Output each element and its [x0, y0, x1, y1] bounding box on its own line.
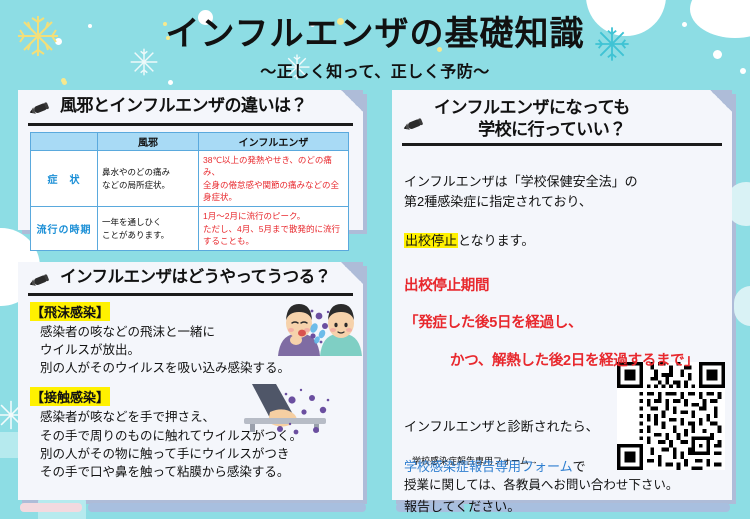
school-intro-before: インフルエンザは「学校保健安全法」の 第2種感染症に指定されており、	[404, 174, 638, 209]
cell-flu-season: 1月〜2月に流行のピーク。 ただし、4月、5月まで散発的に流行することも。	[199, 207, 349, 251]
table-header-row: 風邪 インフルエンザ	[31, 133, 349, 151]
table-row: 症 状 鼻水やのどの痛み などの局所症状。 38℃以上の発熱やせき、のどの痛み、…	[31, 151, 349, 207]
tag-contact-infection: 【接触感染】	[30, 387, 110, 406]
report-line1: インフルエンザと診断されたら、	[404, 419, 599, 434]
heading-underline	[28, 123, 353, 126]
cell-flu-symptoms: 38℃以上の発熱やせき、のどの痛み、 全身の倦怠感や関節の痛みなどの全身症状。	[199, 151, 349, 207]
report-form-link[interactable]: 学校感染症報告専用フォーム	[404, 459, 573, 474]
panel-difference: 風邪とインフルエンザの違いは？ 風邪 インフルエンザ 症 状 鼻水やのどの痛み …	[18, 90, 363, 230]
suspension-line1: 「発症した後5日を経過し、	[404, 314, 720, 333]
school-intro-highlight: 出校停止	[404, 233, 458, 248]
bottom-bar	[20, 503, 82, 512]
panel-heading-line1: インフルエンザになっても	[434, 98, 630, 118]
row-label-symptoms: 症 状	[31, 151, 98, 207]
report-line1-suffix: で	[573, 459, 586, 474]
report-instruction: インフルエンザと診断されたら、 学校感染症報告専用フォームで 報告してください。	[392, 397, 732, 518]
pencil-icon	[28, 270, 54, 292]
header: インフルエンザの基礎知識 〜正しく知って、正しく予防〜	[0, 6, 750, 82]
text-droplet-infection: 感染者の咳などの飛沫と一緒に ウイルスが放出。 別の人がそのウイルスを吸い込み感…	[18, 323, 363, 377]
heading-underline	[28, 293, 353, 296]
panel-heading: インフルエンザはどうやってうつる？	[18, 262, 363, 292]
table-col-kaze: 風邪	[98, 133, 199, 151]
row-label-season: 流行の時期	[31, 207, 98, 251]
suspension-period-block: 出校停止期間 「発症した後5日を経過し、 かつ、解熱した後2日を経過するまで」	[392, 257, 732, 389]
table-col-flu: インフルエンザ	[199, 133, 349, 151]
text-contact-infection: 感染者が咳などを手で押さえ、 その手で周りのものに触れてウイルスがつく。 別の人…	[18, 408, 363, 481]
comparison-table: 風邪 インフルエンザ 症 状 鼻水やのどの痛み などの局所症状。 38℃以上の発…	[30, 132, 349, 251]
cell-kaze-symptoms: 鼻水やのどの痛み などの局所症状。	[98, 151, 199, 207]
suspension-line2: かつ、解熱した後2日を経過するまで」	[404, 352, 720, 371]
panel-heading: インフルエンザになっても 学校に行っていい？	[392, 90, 732, 141]
panel-heading-text: 風邪とインフルエンザの違いは？	[60, 96, 307, 116]
tag-droplet-infection: 【飛沫感染】	[30, 302, 110, 321]
pencil-icon	[28, 98, 54, 120]
cell-kaze-season: 一年を通しひく ことがあります。	[98, 207, 199, 251]
page-subtitle: 〜正しく知って、正しく予防〜	[0, 58, 750, 82]
bottom-bar	[88, 503, 366, 512]
panel-heading-text: インフルエンザはどうやってうつる？	[60, 268, 331, 287]
table-row: 流行の時期 一年を通しひく ことがあります。 1月〜2月に流行のピーク。 ただし…	[31, 207, 349, 251]
school-intro-after: となります。	[458, 233, 534, 248]
panel-heading: 風邪とインフルエンザの違いは？	[18, 90, 363, 122]
panel-transmission: インフルエンザはどうやってうつる？ 【飛沫感染】 感染者の咳などの飛沫と一緒に …	[18, 262, 363, 500]
bg-accent-shape	[734, 286, 750, 326]
panel-school: インフルエンザになっても 学校に行っていい？ インフルエンザは「学校保健安全法」…	[392, 90, 732, 500]
table-col-blank	[31, 133, 98, 151]
panel-heading-line2: 学校に行っていい？	[434, 120, 630, 140]
heading-underline	[402, 143, 722, 146]
page-title: インフルエンザの基礎知識	[0, 6, 750, 55]
suspension-title: 出校停止期間	[404, 277, 720, 296]
school-intro-text: インフルエンザは「学校保健安全法」の 第2種感染症に指定されており、 出校停止と…	[392, 152, 732, 251]
report-line2: 報告してください。	[404, 499, 520, 514]
pencil-icon	[402, 114, 428, 136]
